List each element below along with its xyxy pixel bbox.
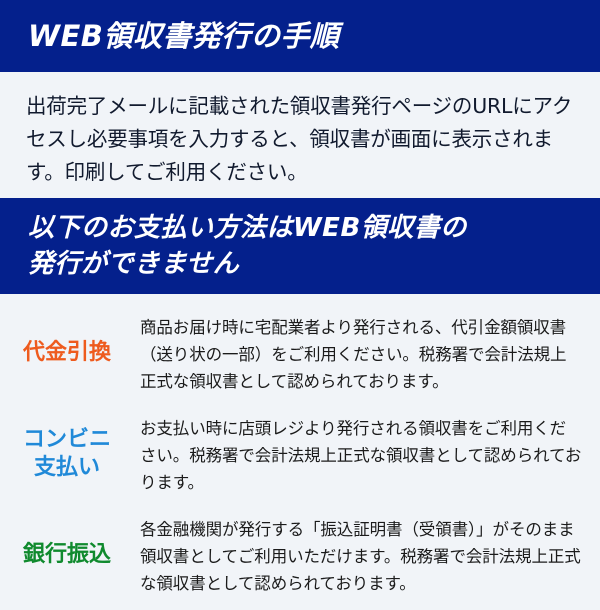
payment-method-row-conbini: コンビニ 支払い お支払い時に店頭レジより発行される領収書をご利用ください。税務… <box>0 408 600 500</box>
payment-methods-list: 代金引換 商品お届け時に宅配業者より発行される、代引金額領収書（送り状の一部）を… <box>0 294 600 610</box>
payment-method-label-bank: 銀行振込 <box>0 541 140 569</box>
payment-method-row-cod: 代金引換 商品お届け時に宅配業者より発行される、代引金額領収書（送り状の一部）を… <box>0 308 600 398</box>
payment-method-row-bank: 銀行振込 各金融機関が発行する「振込証明書（受領書）」がそのまま領収書としてご利… <box>0 510 600 600</box>
payment-method-description-cod: 商品お届け時に宅配業者より発行される、代引金額領収書（送り状の一部）をご利用くだ… <box>140 312 582 395</box>
receipt-info-page: WEB領収書発行の手順 出荷完了メールに記載された領収書発行ページのURLにアク… <box>0 0 600 600</box>
secondary-banner-title: 以下のお支払い方法はWEB領収書の 発行ができません <box>28 210 600 282</box>
payment-method-label-conbini: コンビニ 支払い <box>0 426 140 482</box>
main-banner: WEB領収書発行の手順 <box>0 0 600 72</box>
secondary-banner: 以下のお支払い方法はWEB領収書の 発行ができません <box>0 198 600 294</box>
payment-method-description-bank: 各金融機関が発行する「振込証明書（受領書）」がそのまま領収書としてご利用いただけ… <box>140 514 582 597</box>
payment-method-description-conbini: お支払い時に店頭レジより発行される領収書をご利用ください。税務署で会計法規上正式… <box>140 413 582 496</box>
intro-section: 出荷完了メールに記載された領収書発行ページのURLにアクセスし必要事項を入力する… <box>0 72 600 198</box>
page-title: WEB領収書発行の手順 <box>28 19 600 53</box>
payment-method-label-cod: 代金引換 <box>0 339 140 367</box>
intro-paragraph: 出荷完了メールに記載された領収書発行ページのURLにアクセスし必要事項を入力する… <box>26 90 576 189</box>
